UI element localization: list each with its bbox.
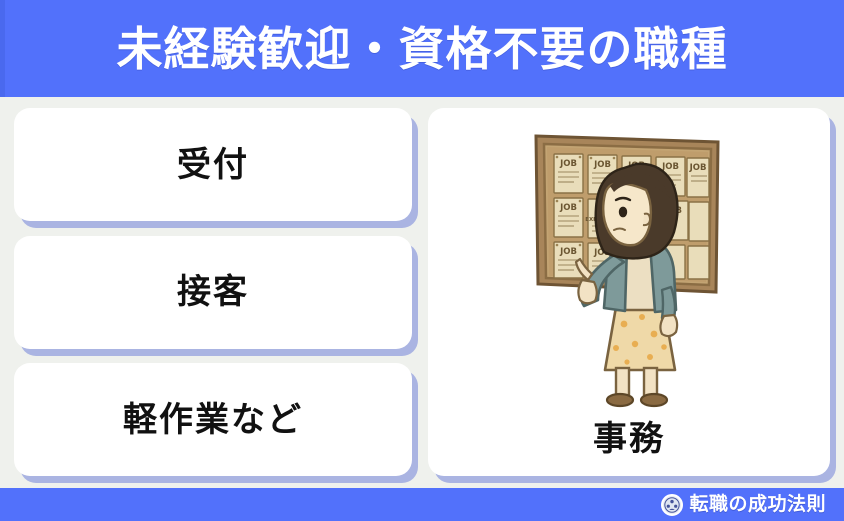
brand-name: 転職の成功法則 — [689, 495, 826, 514]
job-card-label: 軽作業など — [123, 403, 303, 437]
woman-looking-at-job-board-icon: JOB JOB JOB JOB JOB JOB NO EXPERIENCE JO… — [428, 112, 830, 412]
svg-text:JOB: JOB — [559, 247, 577, 257]
svg-text:JOB: JOB — [689, 163, 707, 173]
job-card-label: 事務 — [428, 422, 830, 456]
job-card-reception[interactable]: 受付 — [14, 108, 412, 221]
page-header: 未経験歓迎・資格不要の職種 — [0, 0, 844, 97]
svg-text:JOB: JOB — [593, 160, 611, 170]
content-area: 受付 接客 軽作業など — [0, 97, 844, 488]
job-card-label: 受付 — [177, 148, 249, 182]
job-card-label: 接客 — [177, 275, 249, 309]
brand-logo-group[interactable]: 転職の成功法則 — [661, 494, 826, 516]
job-card-customer-service[interactable]: 接客 — [14, 236, 412, 349]
job-card-light-work[interactable]: 軽作業など — [14, 363, 412, 476]
job-card-office-work[interactable]: JOB JOB JOB JOB JOB JOB NO EXPERIENCE JO… — [428, 108, 830, 476]
page-footer: 転職の成功法則 — [0, 488, 844, 521]
job-card-list: 受付 接客 軽作業など — [14, 108, 414, 476]
site-logo-icon — [661, 494, 683, 516]
infographic-page: 未経験歓迎・資格不要の職種 受付 接客 軽作業など — [0, 0, 844, 521]
svg-text:JOB: JOB — [559, 159, 577, 169]
page-title: 未経験歓迎・資格不要の職種 — [117, 26, 728, 72]
svg-text:JOB: JOB — [559, 203, 577, 213]
job-board-illustration: JOB JOB JOB JOB JOB JOB NO EXPERIENCE JO… — [428, 112, 830, 412]
